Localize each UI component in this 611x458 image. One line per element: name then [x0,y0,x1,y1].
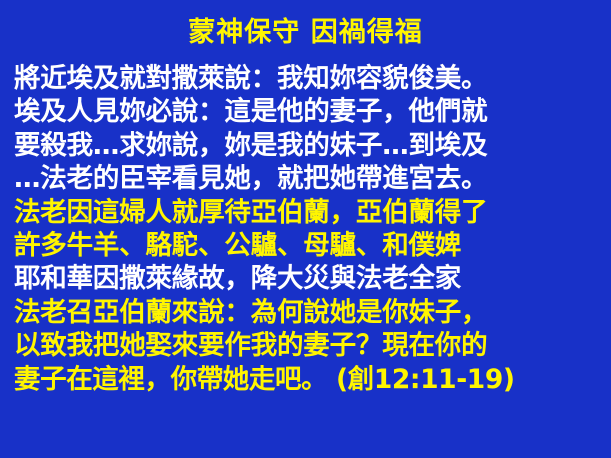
body-line: 耶和華因撒萊緣故，降大災與法老全家 [14,262,599,295]
body-line-reference: 妻子在這裡，你帶她走吧。 (創12:11-19) [14,363,599,396]
slide-title: 蒙神保守 因禍得福 [0,18,611,48]
body-line: 法老召亞伯蘭來說：為何說她是你妹子， [14,296,599,329]
slide-canvas: 蒙神保守 因禍得福 將近埃及就對撒萊說：我知妳容貌俊美。 埃及人見妳必說：這是他… [0,0,611,458]
body-line: 將近埃及就對撒萊說：我知妳容貌俊美。 [14,62,599,95]
body-line: 許多牛羊、駱駝、公驢、母驢、和僕婢 [14,229,599,262]
body-line: 要殺我…求妳說，妳是我的妹子…到埃及 [14,129,599,162]
body-line: …法老的臣宰看見她，就把她帶進宮去。 [14,162,599,195]
slide-body: 將近埃及就對撒萊說：我知妳容貌俊美。 埃及人見妳必說：這是他的妻子，他們就 要殺… [14,62,599,396]
body-line: 以致我把她娶來要作我的妻子？現在你的 [14,329,599,362]
body-line: 法老因這婦人就厚待亞伯蘭，亞伯蘭得了 [14,196,599,229]
body-line: 埃及人見妳必說：這是他的妻子，他們就 [14,95,599,128]
